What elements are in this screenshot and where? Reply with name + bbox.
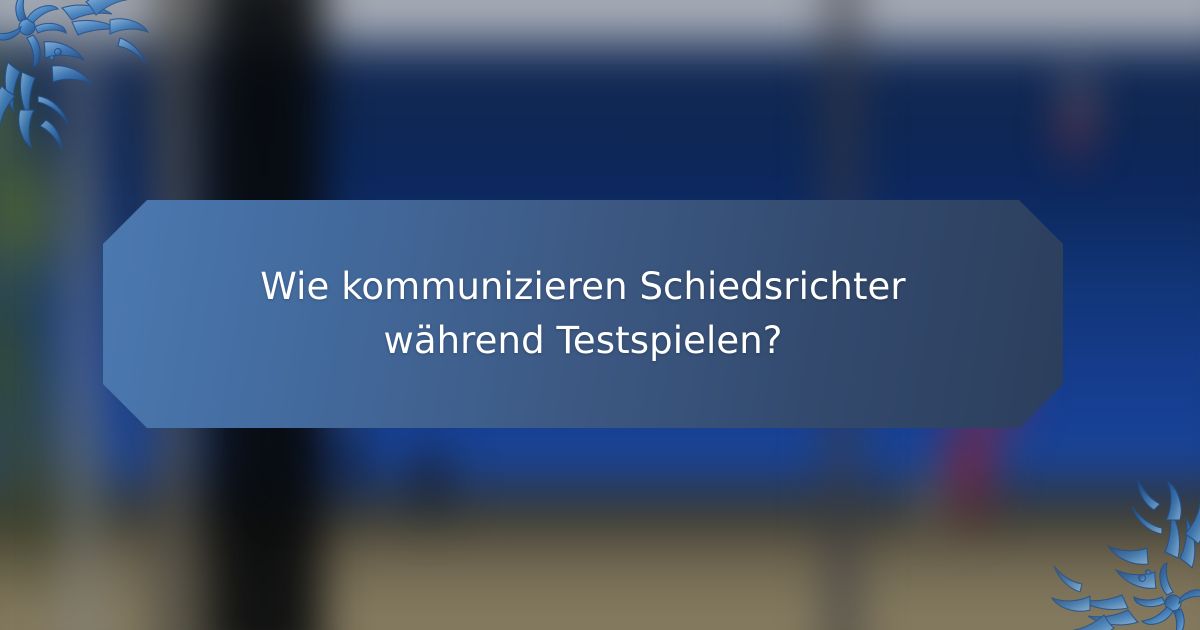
floral-corner-ornament-icon: [0, 0, 150, 150]
question-card: Wie kommunizieren Schiedsrichter während…: [103, 200, 1063, 428]
share-card-canvas: Wie kommunizieren Schiedsrichter während…: [0, 0, 1200, 630]
floral-corner-ornament-icon: [1050, 480, 1200, 630]
question-title: Wie kommunizieren Schiedsrichter während…: [181, 260, 985, 367]
